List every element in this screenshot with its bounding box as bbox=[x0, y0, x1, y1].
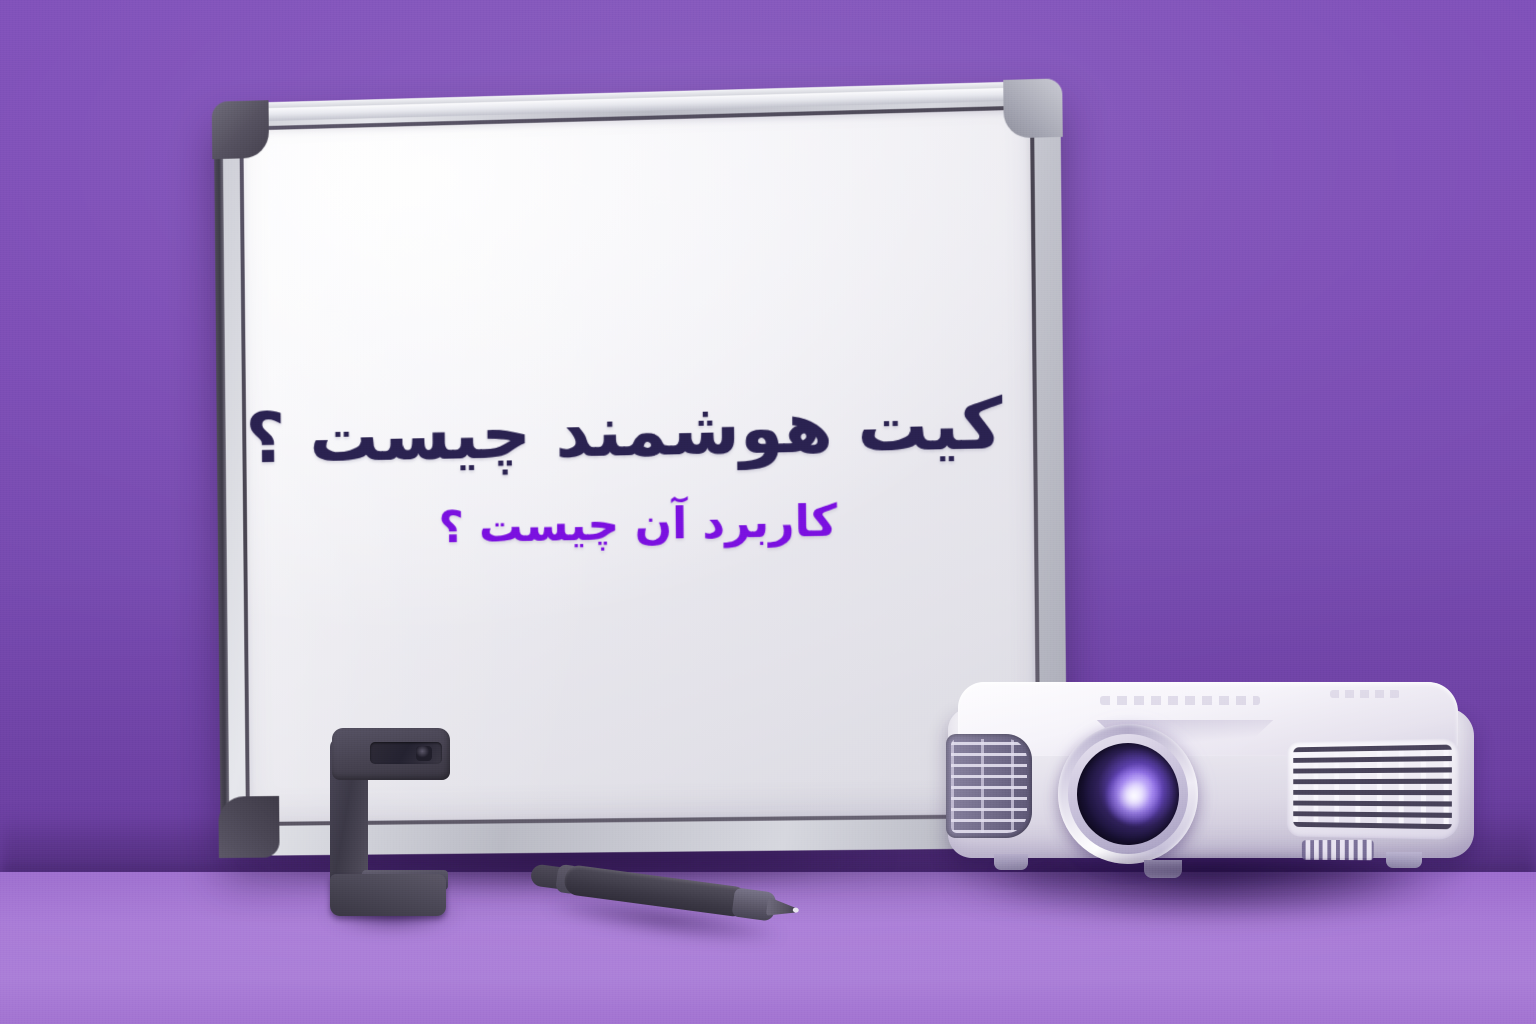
frame-corner-cap-top-left bbox=[212, 100, 269, 159]
ir-sensor-foot bbox=[330, 874, 446, 916]
frame-corner-cap-top-right bbox=[1003, 78, 1063, 138]
projector-top-emboss bbox=[1100, 696, 1260, 705]
ir-sensor-camera-icon bbox=[416, 746, 432, 761]
projector-vent-left bbox=[946, 734, 1032, 838]
projector bbox=[930, 668, 1498, 898]
projector-vent-right bbox=[1287, 738, 1459, 840]
stylus-pen-tip-highlight bbox=[792, 907, 799, 913]
headline-title: کیت هوشمند چیست ؟ bbox=[275, 383, 1003, 480]
headline-subtitle: کاربرد آن چیست ؟ bbox=[276, 492, 1003, 557]
projector-lens-glow bbox=[1106, 768, 1162, 824]
scene-root: کیت هوشمند چیست ؟ کاربرد آن چیست ؟ bbox=[0, 0, 1536, 1024]
projector-contact-shadow bbox=[950, 860, 1460, 886]
ir-sensor-bar bbox=[330, 728, 456, 916]
whiteboard-sheen bbox=[243, 109, 767, 822]
whiteboard-headline: کیت هوشمند چیست ؟ کاربرد آن چیست ؟ bbox=[275, 383, 1003, 558]
projector-vent-lower-right bbox=[1302, 840, 1374, 860]
frame-corner-cap-bottom-left bbox=[218, 796, 279, 858]
projector-top-emboss-secondary bbox=[1330, 690, 1400, 698]
whiteboard-surface: کیت هوشمند چیست ؟ کاربرد آن چیست ؟ bbox=[243, 109, 1036, 822]
